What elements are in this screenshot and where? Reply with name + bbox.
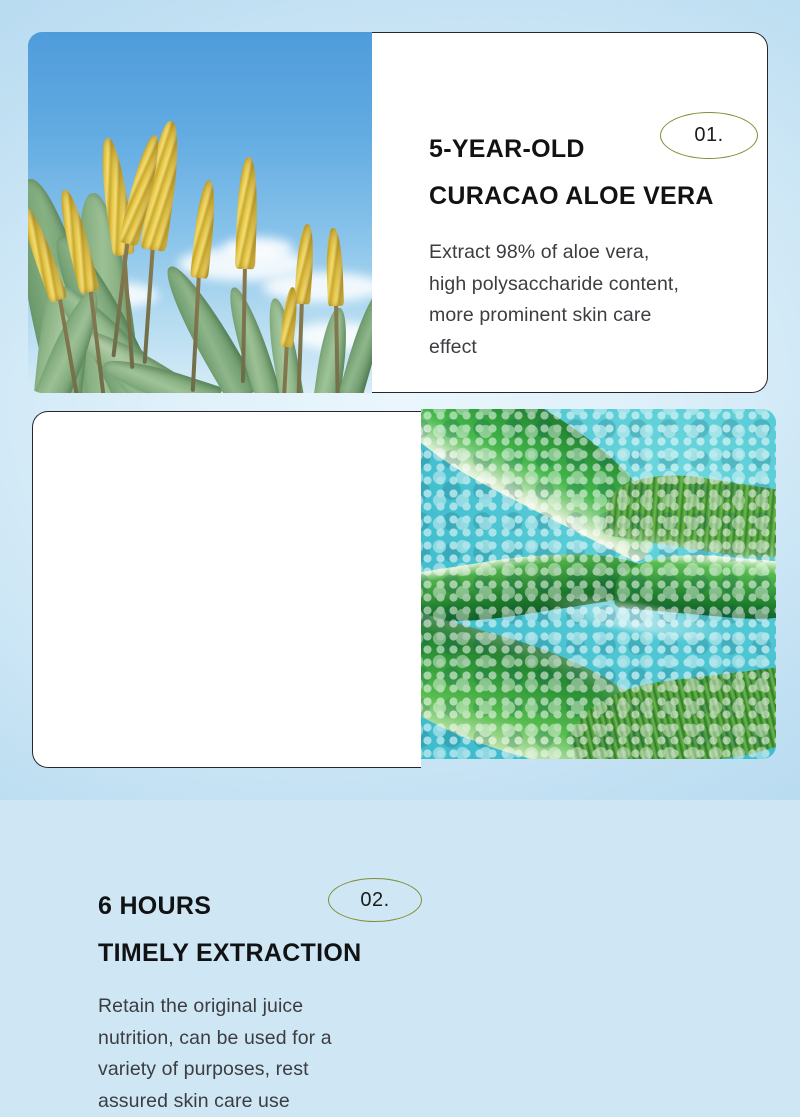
card-02-body-line-2: nutrition, can be used for a xyxy=(98,1023,332,1055)
card-01-heading-line-1: 5-YEAR-OLD xyxy=(429,137,714,162)
card-01-body-line-3: more prominent skin care xyxy=(429,300,679,332)
card-02-heading-line-2: TIMELY EXTRACTION xyxy=(98,941,361,966)
card-02-body-line-1: Retain the original juice xyxy=(98,991,332,1023)
water-droplets-texture xyxy=(421,409,776,759)
badge-02-label: 02. xyxy=(360,889,389,912)
card-01-heading: 5-YEAR-OLD CURACAO ALOE VERA xyxy=(429,137,714,209)
card-02-body-line-4: assured skin care use xyxy=(98,1086,332,1117)
card-01-body: Extract 98% of aloe vera, high polysacch… xyxy=(429,237,679,363)
card-02-heading: 6 HOURS TIMELY EXTRACTION xyxy=(98,894,361,966)
card-02-heading-line-1: 6 HOURS xyxy=(98,894,361,919)
cloud-1 xyxy=(263,272,372,302)
feature-card-01: 01. 5-YEAR-OLD CURACAO ALOE VERA Extract… xyxy=(28,32,768,393)
aloe-flower-photo xyxy=(28,32,372,393)
card-02-body: Retain the original juice nutrition, can… xyxy=(98,991,332,1117)
card-02-body-line-3: variety of purposes, rest xyxy=(98,1054,332,1086)
card-01-body-line-2: high polysaccharide content, xyxy=(429,269,679,301)
card-01-body-line-1: Extract 98% of aloe vera, xyxy=(429,237,679,269)
card-02-text-panel xyxy=(32,411,421,768)
card-01-heading-line-2: CURACAO ALOE VERA xyxy=(429,184,714,209)
card-01-body-line-4: effect xyxy=(429,332,679,364)
aloe-leaf-photo xyxy=(421,409,776,759)
cloud-5 xyxy=(223,237,293,259)
feature-card-02: 02. 6 HOURS TIMELY EXTRACTION Retain the… xyxy=(32,409,776,768)
